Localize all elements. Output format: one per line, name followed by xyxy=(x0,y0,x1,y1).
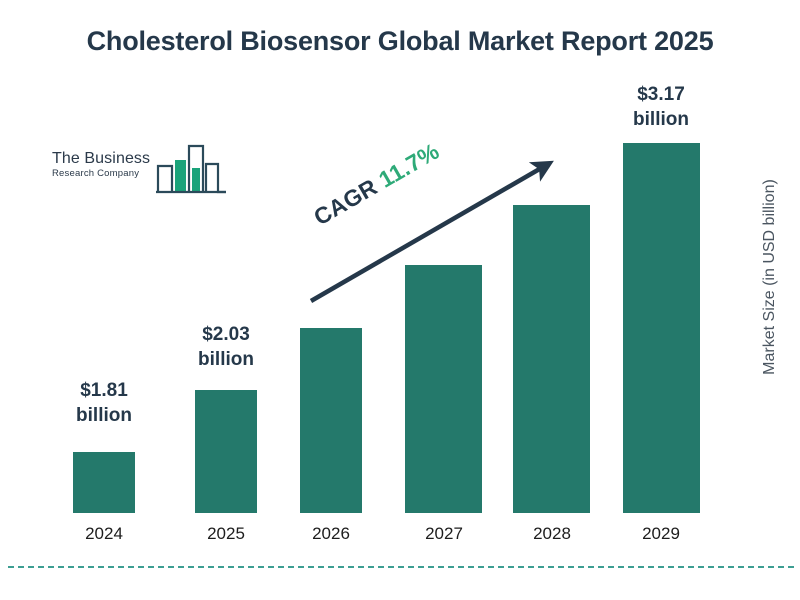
bar-value-2029: $3.17 billion xyxy=(615,82,707,132)
bar-2029 xyxy=(623,143,700,513)
x-tick-2024: 2024 xyxy=(64,524,144,544)
bar-2027 xyxy=(405,265,482,513)
x-tick-2029: 2029 xyxy=(621,524,701,544)
bar-value-2029-amount: $3.17 xyxy=(615,82,707,107)
bar-value-2025-amount: $2.03 xyxy=(181,322,271,347)
footer-divider xyxy=(8,566,794,568)
bar-2024 xyxy=(73,452,135,513)
y-axis-label: Market Size (in USD billion) xyxy=(761,162,779,392)
bar-value-2024: $1.81 billion xyxy=(64,378,144,428)
bar-value-2024-amount: $1.81 xyxy=(64,378,144,403)
chart-page: Cholesterol Biosensor Global Market Repo… xyxy=(0,0,800,600)
x-tick-2026: 2026 xyxy=(291,524,371,544)
bar-value-2025: $2.03 billion xyxy=(181,322,271,372)
bar-chart-plot-area: $1.81 billion $2.03 billion $3.17 billio… xyxy=(0,0,800,600)
bar-value-2024-unit: billion xyxy=(64,403,144,428)
x-tick-2028: 2028 xyxy=(512,524,592,544)
bar-2026 xyxy=(300,328,362,513)
x-tick-2025: 2025 xyxy=(186,524,266,544)
bar-2028 xyxy=(513,205,590,513)
bar-2025 xyxy=(195,390,257,513)
bar-value-2025-unit: billion xyxy=(181,347,271,372)
x-tick-2027: 2027 xyxy=(404,524,484,544)
bar-value-2029-unit: billion xyxy=(615,107,707,132)
